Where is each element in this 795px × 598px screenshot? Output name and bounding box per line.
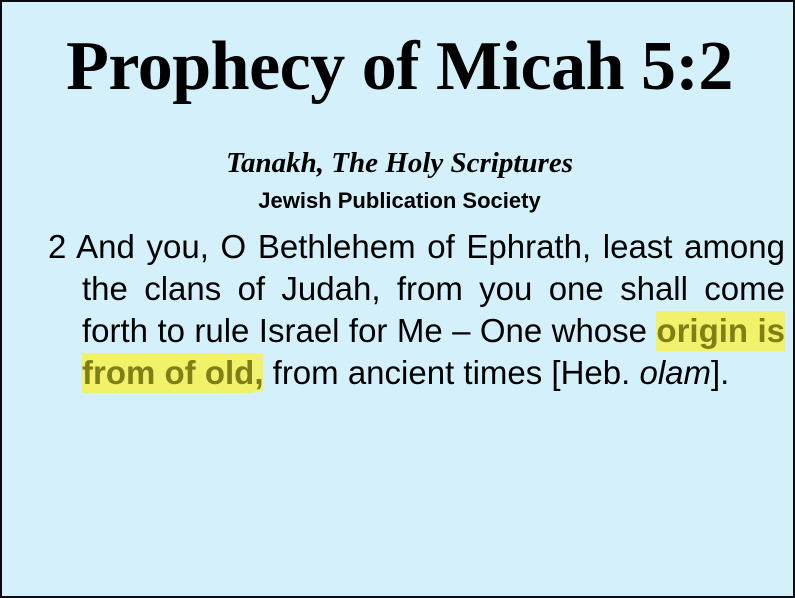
publisher-label: Jewish Publication Society — [2, 187, 795, 215]
hebrew-transliteration: olam — [639, 354, 711, 391]
source-title: Tanakh, The Holy Scriptures — [2, 146, 795, 180]
verse-body: 2 And you, O Bethlehem of Ephrath, least… — [48, 226, 785, 394]
verse-text-after-highlight: from ancient times [Heb. — [263, 354, 639, 391]
page-title: Prophecy of Micah 5:2 — [2, 28, 795, 106]
verse-number: 2 — [48, 228, 66, 265]
verse-text-end: ]. — [711, 354, 729, 391]
slide-canvas: Prophecy of Micah 5:2 Tanakh, The Holy S… — [0, 0, 795, 598]
